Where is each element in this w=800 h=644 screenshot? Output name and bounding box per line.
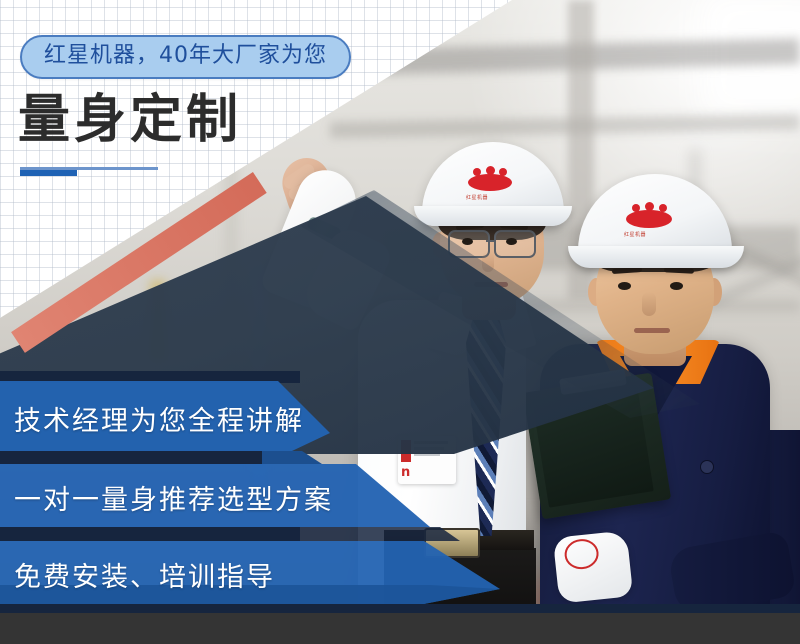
- roof-beam-icon: [330, 114, 800, 138]
- hardhat-brim: [568, 246, 744, 268]
- feature-bar-2: 一对一量身推荐选型方案: [0, 464, 430, 527]
- worker-mouth: [634, 328, 670, 333]
- footer-navy-band: [0, 604, 800, 613]
- engineer-eye: [506, 238, 517, 245]
- title-underline-bold: [20, 170, 77, 176]
- bar-gap-chevron: [290, 527, 460, 541]
- engineer-eye: [462, 238, 473, 245]
- worker-nose: [642, 292, 656, 316]
- page-title: 量身定制: [18, 92, 242, 148]
- feature-bar-1-label: 技术经理为您全程讲解: [14, 399, 304, 438]
- tagline-pill: 红星机器，40年大厂家为您: [20, 35, 351, 79]
- worker-eye: [618, 282, 631, 290]
- jacket-button-icon: [700, 460, 714, 474]
- worker-eye: [670, 282, 683, 290]
- footer-dark-band: [0, 613, 800, 644]
- hardhat-brim: [414, 206, 572, 226]
- bar-gap-band: [0, 451, 300, 464]
- feature-bar-3: 免费安装、培训指导: [0, 541, 500, 604]
- bar-gap-band: [0, 527, 300, 541]
- feature-bar-2-label: 一对一量身推荐选型方案: [14, 478, 333, 517]
- glove-logo-icon: [563, 537, 600, 570]
- white-glove-icon: [553, 530, 633, 603]
- promo-banner: 红星机器 n: [0, 0, 800, 644]
- feature-bar-1: 技术经理为您全程讲解: [0, 381, 330, 451]
- feature-bar-3-label: 免费安装、培训指导: [14, 555, 275, 594]
- eyeglasses-bridge: [486, 240, 496, 242]
